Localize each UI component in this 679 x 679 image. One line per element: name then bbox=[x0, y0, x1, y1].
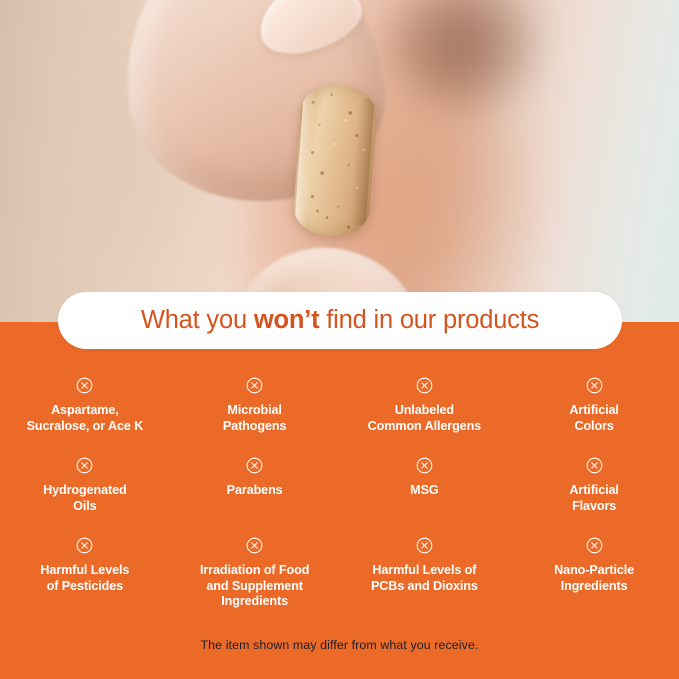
exclusions-row: Harmful Levels of Pesticides Irradiation… bbox=[0, 528, 679, 614]
banner-pill: What you won’t find in our products bbox=[58, 292, 622, 349]
title-part-before: What you bbox=[141, 306, 254, 334]
exclusion-label: Aspartame, Sucralose, or Ace K bbox=[27, 403, 144, 434]
circle-x-icon bbox=[416, 377, 433, 394]
exclusion-item: Artificial Colors bbox=[509, 368, 679, 448]
exclusion-item: Harmful Levels of PCBs and Dioxins bbox=[340, 528, 510, 614]
exclusion-label: Nano-Particle Ingredients bbox=[554, 563, 634, 594]
exclusion-item: MSG bbox=[340, 448, 510, 528]
exclusion-label: Artificial Flavors bbox=[569, 483, 618, 514]
exclusion-label: Harmful Levels of Pesticides bbox=[40, 563, 129, 594]
exclusion-item: Artificial Flavors bbox=[509, 448, 679, 528]
exclusion-item: Aspartame, Sucralose, or Ace K bbox=[0, 368, 170, 448]
exclusion-label: Parabens bbox=[227, 483, 283, 499]
exclusion-label: MSG bbox=[410, 483, 438, 499]
exclusion-label: Hydrogenated Oils bbox=[43, 483, 126, 514]
disclaimer-text: The item shown may differ from what you … bbox=[0, 638, 679, 652]
circle-x-icon bbox=[586, 457, 603, 474]
exclusion-item: Harmful Levels of Pesticides bbox=[0, 528, 170, 614]
exclusion-item: Nano-Particle Ingredients bbox=[509, 528, 679, 614]
exclusion-item: Irradiation of Food and Supplement Ingre… bbox=[170, 528, 340, 614]
product-claims-screen: What you won’t find in our products Aspa… bbox=[0, 0, 679, 679]
exclusions-row: Aspartame, Sucralose, or Ace K Microbial… bbox=[0, 368, 679, 448]
title-emphasis: won’t bbox=[254, 306, 320, 334]
page-title: What you won’t find in our products bbox=[141, 308, 539, 334]
circle-x-icon bbox=[246, 377, 263, 394]
exclusion-label: Harmful Levels of PCBs and Dioxins bbox=[371, 563, 478, 594]
exclusions-row: Hydrogenated Oils Parabens MSG bbox=[0, 448, 679, 528]
circle-x-icon bbox=[586, 537, 603, 554]
title-part-after: find in our products bbox=[319, 306, 539, 334]
circle-x-icon bbox=[76, 537, 93, 554]
exclusion-label: Artificial Colors bbox=[569, 403, 618, 434]
exclusion-item: Microbial Pathogens bbox=[170, 368, 340, 448]
exclusion-label: Irradiation of Food and Supplement Ingre… bbox=[200, 563, 309, 610]
exclusion-label: Microbial Pathogens bbox=[223, 403, 286, 434]
exclusion-item: Hydrogenated Oils bbox=[0, 448, 170, 528]
tablet-pill-icon bbox=[292, 84, 378, 239]
exclusion-item: Unlabeled Common Allergens bbox=[340, 368, 510, 448]
circle-x-icon bbox=[76, 457, 93, 474]
hero-photo bbox=[0, 0, 679, 324]
circle-x-icon bbox=[246, 457, 263, 474]
circle-x-icon bbox=[416, 457, 433, 474]
exclusions-grid: Aspartame, Sucralose, or Ace K Microbial… bbox=[0, 368, 679, 614]
exclusion-label: Unlabeled Common Allergens bbox=[368, 403, 481, 434]
circle-x-icon bbox=[416, 537, 433, 554]
circle-x-icon bbox=[246, 537, 263, 554]
exclusion-item: Parabens bbox=[170, 448, 340, 528]
circle-x-icon bbox=[76, 377, 93, 394]
circle-x-icon bbox=[586, 377, 603, 394]
